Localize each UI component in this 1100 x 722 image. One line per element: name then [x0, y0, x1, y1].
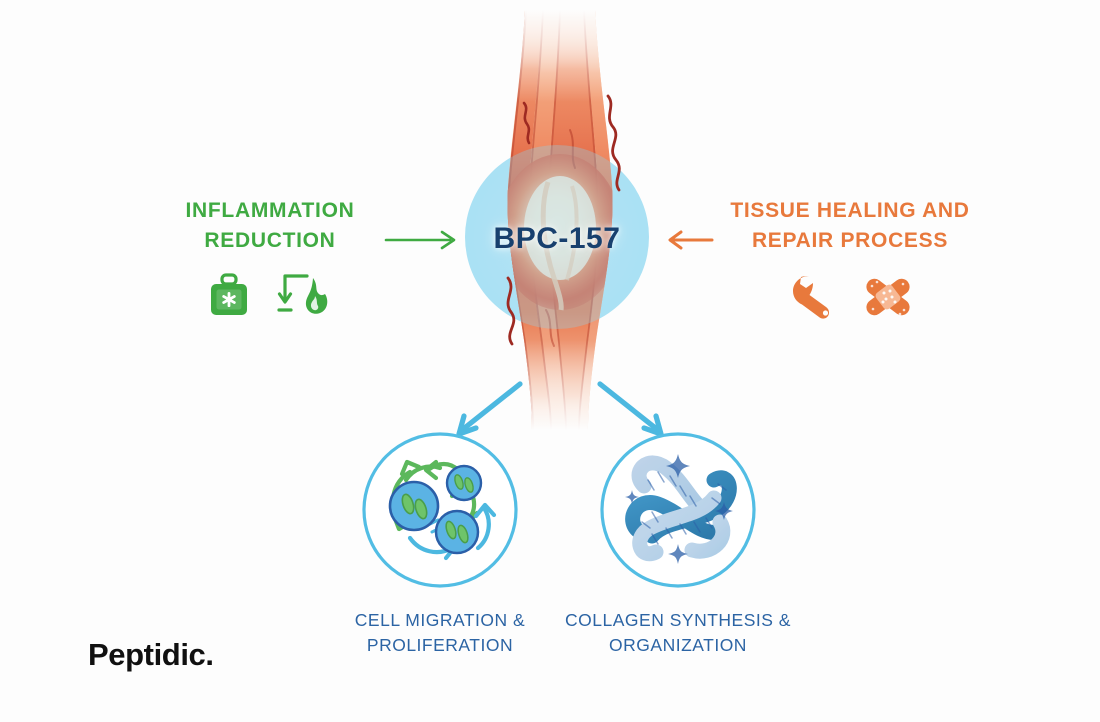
inflammation-reduction-title: INFLAMMATION REDUCTION — [120, 196, 420, 256]
cell-migration-icon — [358, 428, 522, 592]
reduce-inflammation-icon — [277, 272, 333, 318]
tissue-healing-title: TISSUE HEALING AND REPAIR PROCESS — [690, 196, 1010, 256]
cell-migration-caption: CELL MIGRATION & PROLIFERATION — [325, 608, 555, 659]
collagen-synthesis-caption: COLLAGEN SYNTHESIS & ORGANIZATION — [563, 608, 793, 659]
peptidic-watermark: Peptidic. — [88, 637, 214, 673]
repair-icon-row — [752, 272, 952, 322]
wrench-icon — [788, 273, 834, 321]
crossed-bandages-icon — [860, 272, 916, 322]
infographic-canvas: BPC-157 INFLAMMATION REDUCTION TISSUE — [0, 0, 1100, 722]
center-label: BPC-157 — [437, 222, 677, 256]
inflammation-icon-row — [170, 272, 370, 318]
collagen-braid-icon — [596, 428, 760, 592]
central-tissue-illustration — [420, 10, 700, 430]
medical-kit-icon — [207, 272, 251, 318]
